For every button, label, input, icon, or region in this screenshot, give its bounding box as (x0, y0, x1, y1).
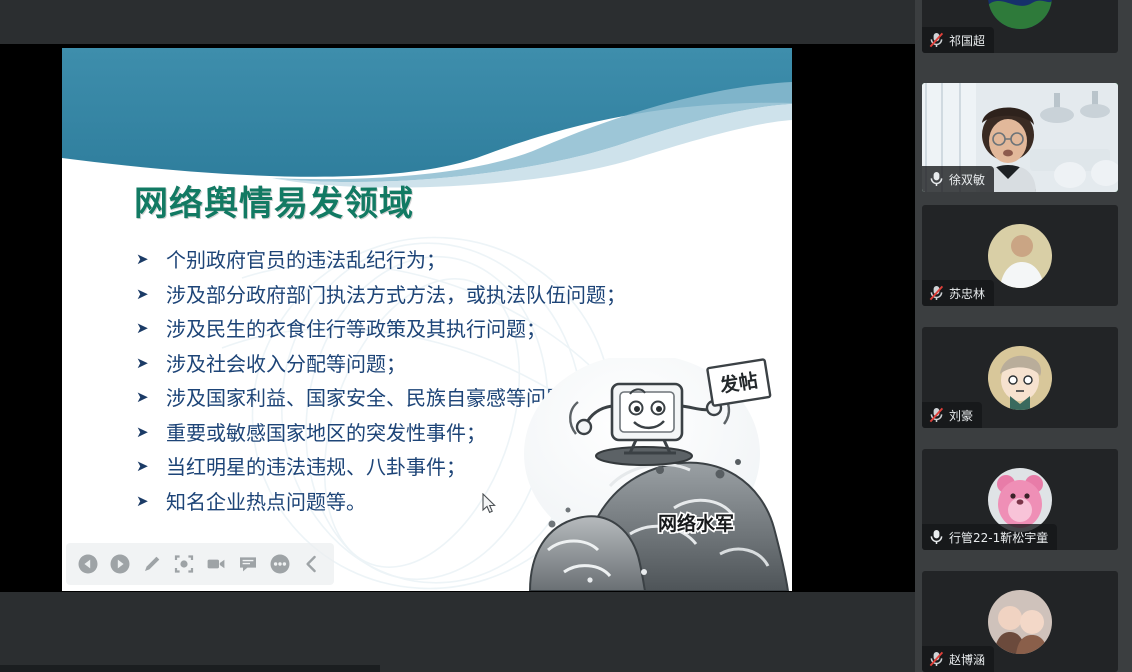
previous-slide-button[interactable] (72, 543, 104, 585)
next-slide-icon (109, 553, 131, 575)
mic-muted-icon (929, 651, 944, 667)
bottom-edge-strip (0, 665, 380, 672)
bullet-item: ➤个别政府官员的违法乱纪行为； (136, 245, 776, 280)
laser-focus-button[interactable] (168, 543, 200, 585)
mic-unmuted-icon (929, 171, 944, 187)
participant-avatar (988, 590, 1052, 654)
participant-name: 行管22-1靳松宇童 (949, 529, 1048, 546)
mic-muted-icon[interactable] (929, 32, 944, 48)
mic-unmuted-icon[interactable] (929, 171, 944, 187)
mic-muted-icon (929, 32, 944, 48)
collapse-left-button[interactable] (296, 543, 328, 585)
mic-unmuted-icon[interactable] (929, 529, 944, 545)
participant-avatar (988, 468, 1052, 532)
bullet-arrow-icon: ➤ (136, 418, 166, 448)
bullet-text: 知名企业热点问题等。 (166, 487, 366, 517)
mic-muted-icon (929, 407, 944, 423)
mic-muted-icon[interactable] (929, 407, 944, 423)
bullet-text: 涉及社会收入分配等问题； (166, 349, 406, 379)
participant-name: 徐双敏 (949, 171, 985, 188)
participant-name-bar: 苏忠林 (922, 280, 994, 306)
participant-name: 祁国超 (949, 32, 985, 49)
bullet-arrow-icon: ➤ (136, 349, 166, 379)
bottom-chrome-bar (0, 592, 915, 672)
comment-button[interactable] (232, 543, 264, 585)
laser-focus-icon (173, 553, 195, 575)
bullet-arrow-icon: ➤ (136, 314, 166, 344)
pen-annotate-button[interactable] (136, 543, 168, 585)
participant-avatar (988, 0, 1052, 29)
slide-title: 网络舆情易发领域 (134, 176, 414, 225)
screen-share-window: 网络舆情易发领域 ➤个别政府官员的违法乱纪行为；➤涉及部分政府部门执法方式方法，… (0, 0, 1132, 672)
top-chrome-bar (0, 0, 915, 44)
comment-icon (237, 553, 259, 575)
collapse-left-icon (301, 553, 323, 575)
participant-tile[interactable]: 刘豪 (922, 327, 1118, 428)
illustration-wave-label: 网络水军 (658, 512, 734, 535)
participant-tile[interactable]: 赵博涵 (922, 571, 1118, 672)
mouse-cursor (481, 493, 497, 515)
participant-name-bar: 赵博涵 (922, 646, 994, 672)
mic-unmuted-icon (929, 529, 944, 545)
bullet-text: 涉及国家利益、国家安全、民族自豪感等问题； (166, 383, 586, 413)
bullet-text: 当红明星的违法违规、八卦事件； (166, 452, 466, 482)
video-camera-button[interactable] (200, 543, 232, 585)
participant-avatar (988, 224, 1052, 288)
mic-muted-icon (929, 285, 944, 301)
participant-tile[interactable]: 苏忠林 (922, 205, 1118, 306)
bullet-item: ➤涉及部分政府部门执法方式方法，或执法队伍问题； (136, 280, 776, 315)
mic-muted-icon[interactable] (929, 651, 944, 667)
more-options-button[interactable] (264, 543, 296, 585)
bullet-arrow-icon: ➤ (136, 383, 166, 413)
participant-tile[interactable]: 行管22-1靳松宇童 (922, 449, 1118, 550)
previous-slide-icon (77, 553, 99, 575)
bullet-arrow-icon: ➤ (136, 487, 166, 517)
bullet-text: 重要或敏感国家地区的突发性事件； (166, 418, 486, 448)
bullet-text: 涉及部分政府部门执法方式方法，或执法队伍问题； (166, 280, 626, 310)
participant-tile[interactable]: 祁国超 (922, 0, 1118, 53)
slide-header-banner (62, 48, 792, 188)
mic-muted-icon[interactable] (929, 285, 944, 301)
participant-name: 赵博涵 (949, 651, 985, 668)
bullet-item: ➤涉及民生的衣食住行等政策及其执行问题； (136, 314, 776, 349)
video-camera-icon (205, 553, 227, 575)
participant-avatar (988, 346, 1052, 410)
participant-name-bar: 行管22-1靳松宇童 (922, 524, 1057, 550)
pen-annotate-icon (141, 553, 163, 575)
participant-name-bar: 徐双敏 (922, 166, 994, 192)
bullet-arrow-icon: ➤ (136, 280, 166, 310)
participant-name: 苏忠林 (949, 285, 985, 302)
bullet-text: 涉及民生的衣食住行等政策及其执行问题； (166, 314, 546, 344)
next-slide-button[interactable] (104, 543, 136, 585)
participant-name: 刘豪 (949, 407, 973, 424)
participant-tile[interactable]: 徐双敏 (922, 83, 1118, 192)
more-options-icon (269, 553, 291, 575)
bullet-arrow-icon: ➤ (136, 452, 166, 482)
presentation-toolbar[interactable] (66, 543, 334, 585)
cartoon-illustration: 发帖 网络水军 (524, 358, 792, 591)
powerpoint-slide[interactable]: 网络舆情易发领域 ➤个别政府官员的违法乱纪行为；➤涉及部分政府部门执法方式方法，… (62, 48, 792, 591)
bullet-text: 个别政府官员的违法乱纪行为； (166, 245, 446, 275)
bullet-arrow-icon: ➤ (136, 245, 166, 275)
participant-name-bar: 刘豪 (922, 402, 982, 428)
participant-rail[interactable]: 祁国超徐双敏苏忠林刘豪行管22-1靳松宇童赵博涵 (915, 0, 1132, 672)
participant-name-bar: 祁国超 (922, 27, 994, 53)
